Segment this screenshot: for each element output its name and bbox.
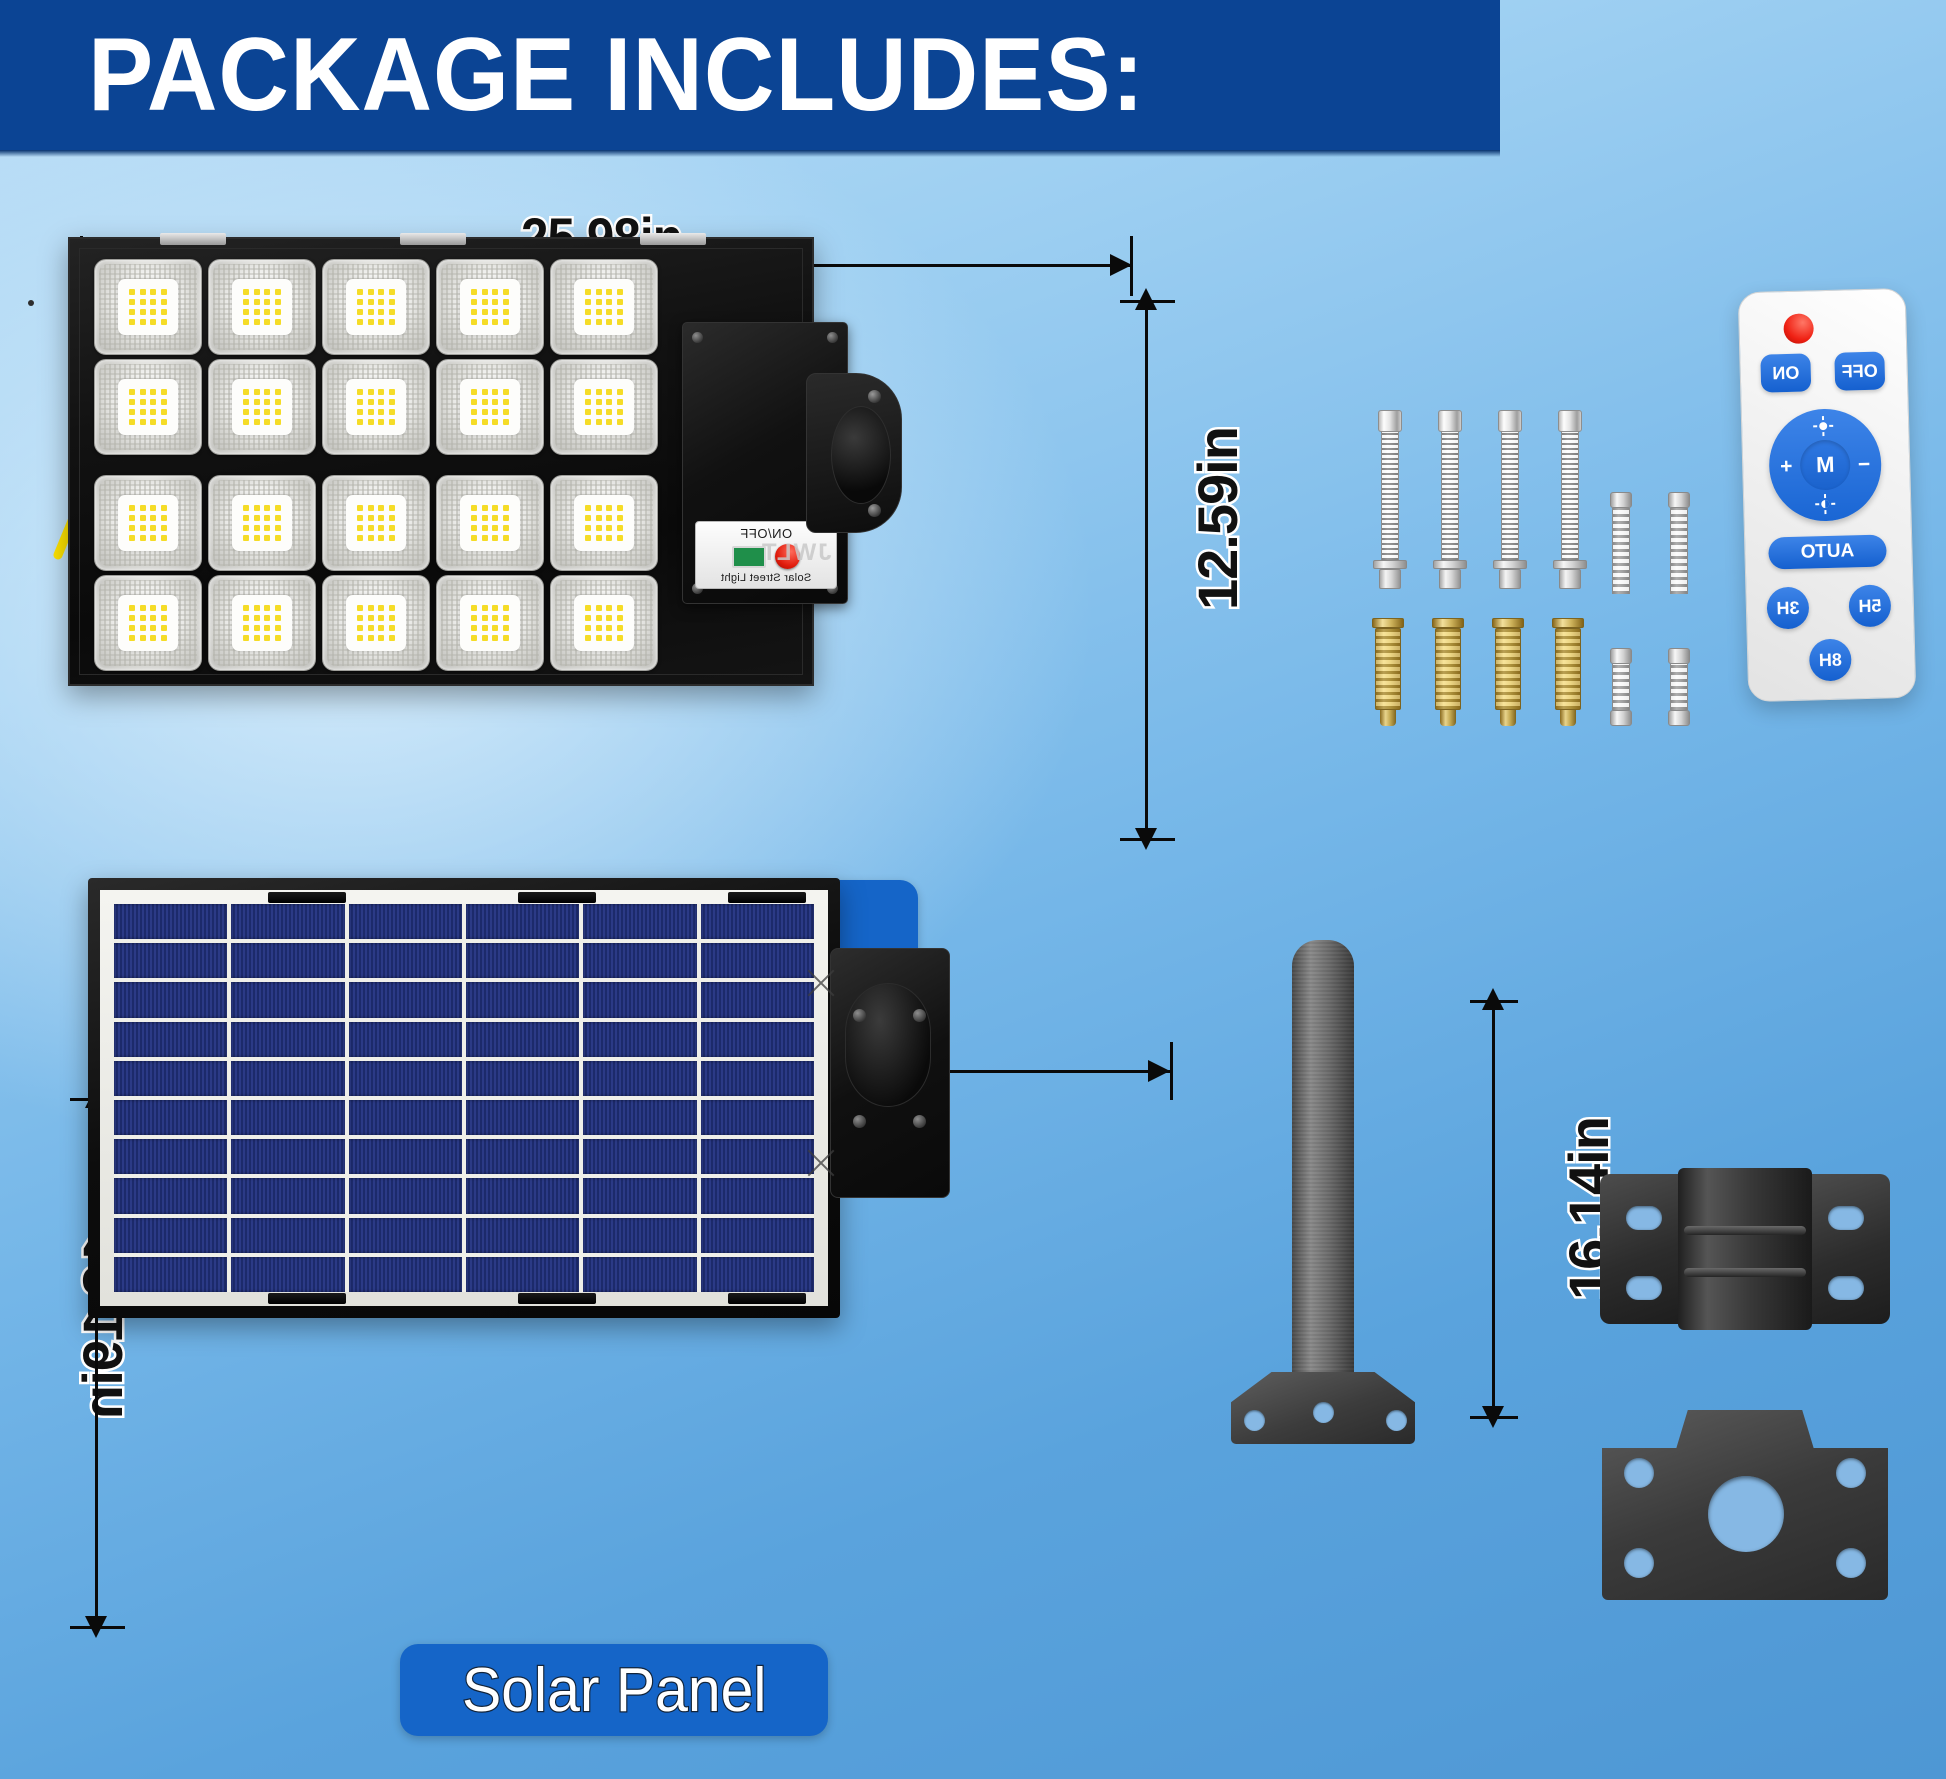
solar-cell bbox=[466, 1257, 579, 1292]
led-chip bbox=[140, 635, 146, 641]
led-chip bbox=[275, 505, 281, 511]
solar-panel bbox=[88, 878, 840, 1318]
solar-cell bbox=[114, 904, 227, 939]
dim-panel-width-arrow-right bbox=[1148, 1060, 1170, 1082]
led-chip bbox=[482, 615, 488, 621]
led-chip bbox=[275, 389, 281, 395]
led-chip bbox=[378, 389, 384, 395]
anchor-cap bbox=[1372, 618, 1404, 628]
remote-timer-8h-button[interactable]: 8H bbox=[1809, 638, 1852, 681]
plate-bracket-center-hole bbox=[1708, 1476, 1784, 1552]
bolt-washer bbox=[1373, 560, 1407, 569]
solar-cell bbox=[701, 1218, 814, 1253]
dim-lamp-height-arrow-up bbox=[1135, 288, 1157, 310]
solar-street-light-fixture: ON/OFF Solar Street Light JWLT bbox=[68, 237, 814, 686]
led-chip bbox=[482, 505, 488, 511]
expansion-bolt-nut bbox=[1610, 710, 1632, 726]
expansion-anchor bbox=[1375, 618, 1401, 726]
anchor-body bbox=[1375, 628, 1401, 710]
led-module bbox=[436, 359, 544, 455]
led-chip bbox=[150, 289, 156, 295]
led-chip bbox=[585, 515, 591, 521]
led-chip bbox=[129, 615, 135, 621]
led-chip bbox=[161, 535, 167, 541]
led-module bbox=[94, 475, 202, 571]
panel-tab bbox=[728, 892, 806, 903]
led-chip bbox=[357, 525, 363, 531]
solar-cell bbox=[701, 1257, 814, 1292]
led-chip bbox=[596, 319, 602, 325]
led-chip bbox=[275, 605, 281, 611]
led-chip bbox=[357, 409, 363, 415]
led-chip bbox=[482, 299, 488, 305]
led-chip bbox=[617, 299, 623, 305]
led-module bbox=[436, 259, 544, 355]
led-chip bbox=[596, 515, 602, 521]
solar-panel-cell-grid bbox=[114, 904, 814, 1292]
sleeve-body bbox=[1670, 508, 1688, 594]
bolt-nut bbox=[1439, 569, 1461, 589]
led-chip bbox=[389, 505, 395, 511]
solar-cell bbox=[114, 982, 227, 1017]
led-chip bbox=[254, 409, 260, 415]
remote-mode-button[interactable]: M bbox=[1800, 439, 1851, 490]
led-chip bbox=[140, 525, 146, 531]
mounting-bolt bbox=[1498, 410, 1522, 589]
led-chip bbox=[243, 389, 249, 395]
dim-pole-height-tick-bottom bbox=[1470, 1416, 1518, 1419]
led-module bbox=[94, 259, 202, 355]
led-chip bbox=[471, 625, 477, 631]
remote-minus-button[interactable]: − bbox=[1858, 453, 1871, 477]
led-chip bbox=[585, 505, 591, 511]
led-module bbox=[550, 359, 658, 455]
base-plate-hole bbox=[1313, 1402, 1334, 1423]
bolt-head bbox=[1438, 410, 1462, 432]
led-chip bbox=[482, 309, 488, 315]
led-chip bbox=[596, 409, 602, 415]
led-chip bbox=[161, 319, 167, 325]
led-chip bbox=[264, 515, 270, 521]
led-chip bbox=[368, 535, 374, 541]
anchor-cap bbox=[1432, 618, 1464, 628]
led-chip bbox=[503, 319, 509, 325]
led-chip bbox=[243, 605, 249, 611]
led-chip bbox=[254, 615, 260, 621]
led-chip bbox=[492, 625, 498, 631]
solar-panel-frame bbox=[100, 890, 828, 1306]
led-chip bbox=[617, 615, 623, 621]
led-chip bbox=[492, 615, 498, 621]
remote-off-button[interactable]: OFF bbox=[1834, 351, 1885, 390]
led-chip bbox=[503, 605, 509, 611]
led-chip bbox=[275, 319, 281, 325]
expansion-bolt bbox=[1610, 648, 1632, 726]
led-module bbox=[436, 475, 544, 571]
expansion-bolt-nut bbox=[1668, 710, 1690, 726]
led-chip bbox=[140, 319, 146, 325]
led-chip bbox=[617, 625, 623, 631]
led-chip bbox=[161, 635, 167, 641]
solar-cell bbox=[701, 1061, 814, 1096]
base-plate-hole bbox=[1386, 1410, 1407, 1431]
led-chip bbox=[368, 289, 374, 295]
panel-tab bbox=[268, 892, 346, 903]
led-chip bbox=[378, 419, 384, 425]
solar-cell bbox=[349, 1022, 462, 1057]
sleeve-body bbox=[1612, 508, 1630, 594]
led-chip bbox=[140, 289, 146, 295]
remote-timer-5h-button[interactable]: 5H bbox=[1848, 584, 1891, 627]
led-chip bbox=[161, 289, 167, 295]
led-chip bbox=[585, 625, 591, 631]
solar-cell bbox=[349, 1061, 462, 1096]
led-chip bbox=[492, 515, 498, 521]
led-chip bbox=[596, 309, 602, 315]
led-chip bbox=[264, 319, 270, 325]
led-chip bbox=[492, 319, 498, 325]
remote-ir-led-icon bbox=[1783, 313, 1814, 344]
led-chip bbox=[492, 535, 498, 541]
led-chip-array bbox=[118, 595, 177, 651]
led-chip bbox=[471, 299, 477, 305]
led-chip bbox=[617, 399, 623, 405]
led-chip bbox=[378, 309, 384, 315]
led-chip bbox=[617, 515, 623, 521]
led-chip bbox=[264, 399, 270, 405]
led-chip bbox=[161, 309, 167, 315]
led-chip bbox=[254, 635, 260, 641]
led-chip bbox=[150, 635, 156, 641]
led-chip bbox=[264, 605, 270, 611]
plate-bracket-hole bbox=[1836, 1458, 1866, 1488]
dim-pole-height-arrow-up bbox=[1482, 988, 1504, 1010]
led-module bbox=[208, 259, 316, 355]
led-chip bbox=[482, 635, 488, 641]
led-chip bbox=[585, 615, 591, 621]
led-chip bbox=[389, 625, 395, 631]
led-chip bbox=[585, 399, 591, 405]
led-chip bbox=[275, 535, 281, 541]
led-chip bbox=[368, 615, 374, 621]
led-chip bbox=[161, 409, 167, 415]
remote-plus-button[interactable]: + bbox=[1780, 455, 1793, 479]
led-chip bbox=[243, 535, 249, 541]
led-chip-array bbox=[460, 595, 519, 651]
remote-auto-button[interactable]: AUTO bbox=[1768, 534, 1887, 569]
led-chip bbox=[585, 389, 591, 395]
remote-control[interactable]: OFF ON − + M AUTO 5H 3H 8H bbox=[1738, 288, 1917, 702]
led-chip bbox=[503, 505, 509, 511]
led-chip-array bbox=[346, 595, 405, 651]
solar-cell bbox=[701, 1022, 814, 1057]
led-chip bbox=[161, 625, 167, 631]
led-chip bbox=[471, 319, 477, 325]
led-chip bbox=[254, 299, 260, 305]
led-chip bbox=[357, 635, 363, 641]
sleeve-head bbox=[1610, 492, 1632, 508]
solar-cell bbox=[231, 904, 344, 939]
led-chip bbox=[161, 419, 167, 425]
bolt-head bbox=[1378, 410, 1402, 432]
solar-cell bbox=[701, 982, 814, 1017]
panel-tab bbox=[268, 1293, 346, 1304]
led-chip bbox=[471, 289, 477, 295]
remote-dpad[interactable]: − + M bbox=[1768, 408, 1883, 523]
plate-bracket bbox=[1602, 1410, 1888, 1600]
led-chip bbox=[378, 515, 384, 521]
dim-lamp-height-tick-bottom bbox=[1120, 838, 1175, 841]
led-chip bbox=[471, 525, 477, 531]
led-chip bbox=[596, 505, 602, 511]
led-chip bbox=[357, 319, 363, 325]
led-chip bbox=[264, 625, 270, 631]
led-chip bbox=[617, 419, 623, 425]
led-chip bbox=[596, 605, 602, 611]
led-chip bbox=[617, 605, 623, 611]
led-chip bbox=[150, 299, 156, 305]
dim-lamp-height-tick-top bbox=[1120, 300, 1175, 303]
led-chip bbox=[378, 505, 384, 511]
solar-cell bbox=[349, 1100, 462, 1135]
led-chip bbox=[617, 409, 623, 415]
led-chip bbox=[357, 625, 363, 631]
mount-box-screw bbox=[853, 1009, 866, 1022]
led-chip bbox=[161, 399, 167, 405]
led-chip bbox=[140, 535, 146, 541]
led-chip bbox=[585, 299, 591, 305]
led-chip bbox=[150, 419, 156, 425]
mount-x-brace bbox=[803, 965, 839, 1001]
led-chip bbox=[503, 515, 509, 521]
led-chip bbox=[254, 515, 260, 521]
led-chip bbox=[275, 409, 281, 415]
led-chip bbox=[492, 389, 498, 395]
led-module bbox=[550, 575, 658, 671]
saddle-ridge bbox=[1684, 1268, 1806, 1277]
expansion-anchor bbox=[1495, 618, 1521, 726]
led-chip bbox=[161, 525, 167, 531]
led-chip bbox=[264, 289, 270, 295]
led-chip bbox=[471, 399, 477, 405]
led-chip bbox=[378, 409, 384, 415]
u-bracket-hole bbox=[1828, 1206, 1864, 1230]
led-chip bbox=[378, 319, 384, 325]
led-module bbox=[436, 575, 544, 671]
led-chip bbox=[492, 399, 498, 405]
solar-cell bbox=[349, 1178, 462, 1213]
led-chip bbox=[140, 299, 146, 305]
expansion-bolt-head bbox=[1668, 648, 1690, 664]
led-chip bbox=[140, 389, 146, 395]
u-bracket-hole bbox=[1626, 1206, 1662, 1230]
solar-cell bbox=[701, 1100, 814, 1135]
mount-box-screw bbox=[853, 1115, 866, 1128]
led-chip bbox=[585, 605, 591, 611]
led-chip bbox=[368, 505, 374, 511]
led-chip bbox=[482, 625, 488, 631]
plate-bracket-hole bbox=[1624, 1458, 1654, 1488]
page-title: PACKAGE INCLUDES: bbox=[88, 23, 1145, 127]
solar-cell bbox=[114, 1257, 227, 1292]
mount-box-screw bbox=[913, 1009, 926, 1022]
u-bracket-saddle bbox=[1678, 1168, 1812, 1330]
led-chip bbox=[606, 635, 612, 641]
led-chip bbox=[243, 615, 249, 621]
led-chip bbox=[264, 309, 270, 315]
anchor-tip bbox=[1440, 710, 1456, 726]
solar-cell bbox=[583, 1061, 696, 1096]
solar-cell bbox=[701, 1178, 814, 1213]
led-chip bbox=[243, 419, 249, 425]
led-chip bbox=[264, 419, 270, 425]
led-chip bbox=[140, 615, 146, 621]
led-chip bbox=[254, 625, 260, 631]
led-chip bbox=[482, 389, 488, 395]
led-chip bbox=[596, 419, 602, 425]
led-chip bbox=[471, 309, 477, 315]
solar-cell bbox=[349, 904, 462, 939]
led-chip bbox=[471, 635, 477, 641]
plate-bracket-hole bbox=[1624, 1548, 1654, 1578]
led-chip bbox=[150, 525, 156, 531]
led-chip bbox=[264, 525, 270, 531]
lamp-clip bbox=[400, 233, 466, 245]
led-chip bbox=[150, 625, 156, 631]
led-chip-array bbox=[460, 379, 519, 435]
saddle-ridge bbox=[1684, 1226, 1806, 1235]
led-chip bbox=[503, 525, 509, 531]
arm-screw bbox=[868, 504, 881, 517]
led-chip bbox=[503, 289, 509, 295]
led-chip bbox=[275, 615, 281, 621]
led-module bbox=[550, 259, 658, 355]
led-chip bbox=[275, 289, 281, 295]
led-chip bbox=[482, 419, 488, 425]
led-chip bbox=[243, 505, 249, 511]
led-module bbox=[322, 475, 430, 571]
led-chip bbox=[389, 419, 395, 425]
solar-cell bbox=[114, 1218, 227, 1253]
led-chip bbox=[368, 399, 374, 405]
led-chip bbox=[161, 615, 167, 621]
arm-screw bbox=[868, 390, 881, 403]
led-chip bbox=[129, 625, 135, 631]
led-chip bbox=[140, 409, 146, 415]
solar-cell bbox=[466, 1061, 579, 1096]
led-chip bbox=[606, 399, 612, 405]
led-chip bbox=[606, 389, 612, 395]
led-chip bbox=[378, 605, 384, 611]
led-chip bbox=[357, 389, 363, 395]
led-chip-array bbox=[460, 495, 519, 551]
led-chip bbox=[140, 419, 146, 425]
mounting-bolt bbox=[1378, 410, 1402, 589]
led-chip bbox=[129, 409, 135, 415]
led-chip bbox=[161, 299, 167, 305]
led-chip bbox=[503, 409, 509, 415]
led-chip bbox=[617, 535, 623, 541]
led-chip bbox=[606, 505, 612, 511]
led-chip bbox=[596, 525, 602, 531]
u-bracket-hole bbox=[1828, 1276, 1864, 1300]
led-chip bbox=[596, 635, 602, 641]
bolt-head bbox=[1558, 410, 1582, 432]
led-chip bbox=[254, 535, 260, 541]
led-chip bbox=[150, 389, 156, 395]
led-chip bbox=[585, 309, 591, 315]
remote-on-button[interactable]: ON bbox=[1760, 353, 1811, 392]
led-chip bbox=[503, 299, 509, 305]
led-chip bbox=[606, 535, 612, 541]
bolt-head bbox=[1498, 410, 1522, 432]
led-chip bbox=[606, 319, 612, 325]
solar-cell bbox=[231, 943, 344, 978]
brand-logo: JWLT bbox=[760, 539, 832, 567]
led-chip bbox=[254, 389, 260, 395]
led-chip bbox=[389, 515, 395, 521]
led-chip bbox=[482, 515, 488, 521]
solar-cell bbox=[114, 943, 227, 978]
remote-timer-3h-button[interactable]: 3H bbox=[1766, 587, 1809, 630]
led-module bbox=[550, 475, 658, 571]
anchor-cap bbox=[1492, 618, 1524, 628]
led-chip bbox=[389, 615, 395, 621]
led-chip bbox=[503, 399, 509, 405]
solar-cell bbox=[466, 982, 579, 1017]
led-chip bbox=[585, 409, 591, 415]
led-chip bbox=[606, 289, 612, 295]
led-chip bbox=[606, 409, 612, 415]
led-chip bbox=[368, 389, 374, 395]
led-chip bbox=[254, 399, 260, 405]
led-chip bbox=[264, 535, 270, 541]
led-chip bbox=[243, 309, 249, 315]
led-chip bbox=[596, 625, 602, 631]
led-chip bbox=[161, 605, 167, 611]
led-chip bbox=[150, 515, 156, 521]
led-chip bbox=[254, 289, 260, 295]
solar-cell bbox=[466, 1178, 579, 1213]
led-chip bbox=[585, 319, 591, 325]
led-chip bbox=[606, 625, 612, 631]
led-chip bbox=[368, 319, 374, 325]
led-chip-array bbox=[232, 379, 291, 435]
anchor-tip bbox=[1500, 710, 1516, 726]
led-chip bbox=[492, 635, 498, 641]
led-chip bbox=[264, 505, 270, 511]
led-chip bbox=[617, 289, 623, 295]
expansion-bolt-head bbox=[1610, 648, 1632, 664]
label-solar-panel: Solar Panel bbox=[400, 1644, 828, 1736]
header-banner: PACKAGE INCLUDES: bbox=[0, 0, 1500, 150]
led-chip bbox=[243, 289, 249, 295]
led-chip-array bbox=[232, 595, 291, 651]
led-chip bbox=[471, 409, 477, 415]
led-chip bbox=[606, 299, 612, 305]
sun-bright-icon bbox=[1815, 418, 1831, 434]
led-chip bbox=[129, 535, 135, 541]
led-chip-array bbox=[346, 495, 405, 551]
dim-lamp-height-line bbox=[1145, 300, 1148, 840]
led-chip bbox=[596, 615, 602, 621]
led-chip bbox=[264, 409, 270, 415]
led-chip bbox=[140, 399, 146, 405]
dim-lamp-width-arrow-right bbox=[1110, 254, 1132, 276]
led-chip bbox=[368, 625, 374, 631]
led-chip bbox=[482, 319, 488, 325]
led-chip bbox=[357, 505, 363, 511]
